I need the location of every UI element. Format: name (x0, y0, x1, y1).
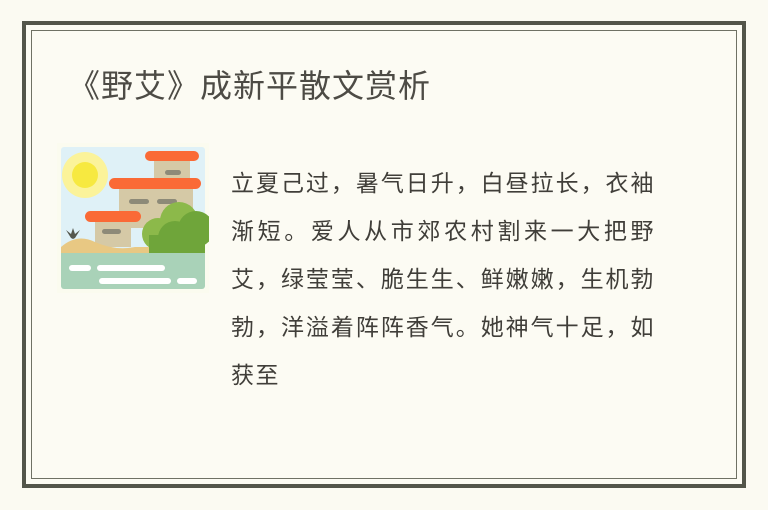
article-thumbnail (57, 143, 209, 293)
village-riverside-illustration (57, 143, 209, 293)
article-page: 《野艾》成新平散文赏析 (0, 0, 768, 510)
page-title: 《野艾》成新平散文赏析 (68, 64, 431, 108)
article-body-text: 立夏己过，暑气日升，白昼拉长，衣袖渐短。爱人从市郊农村割来一大把野艾，绿莹莹、脆… (231, 160, 655, 400)
